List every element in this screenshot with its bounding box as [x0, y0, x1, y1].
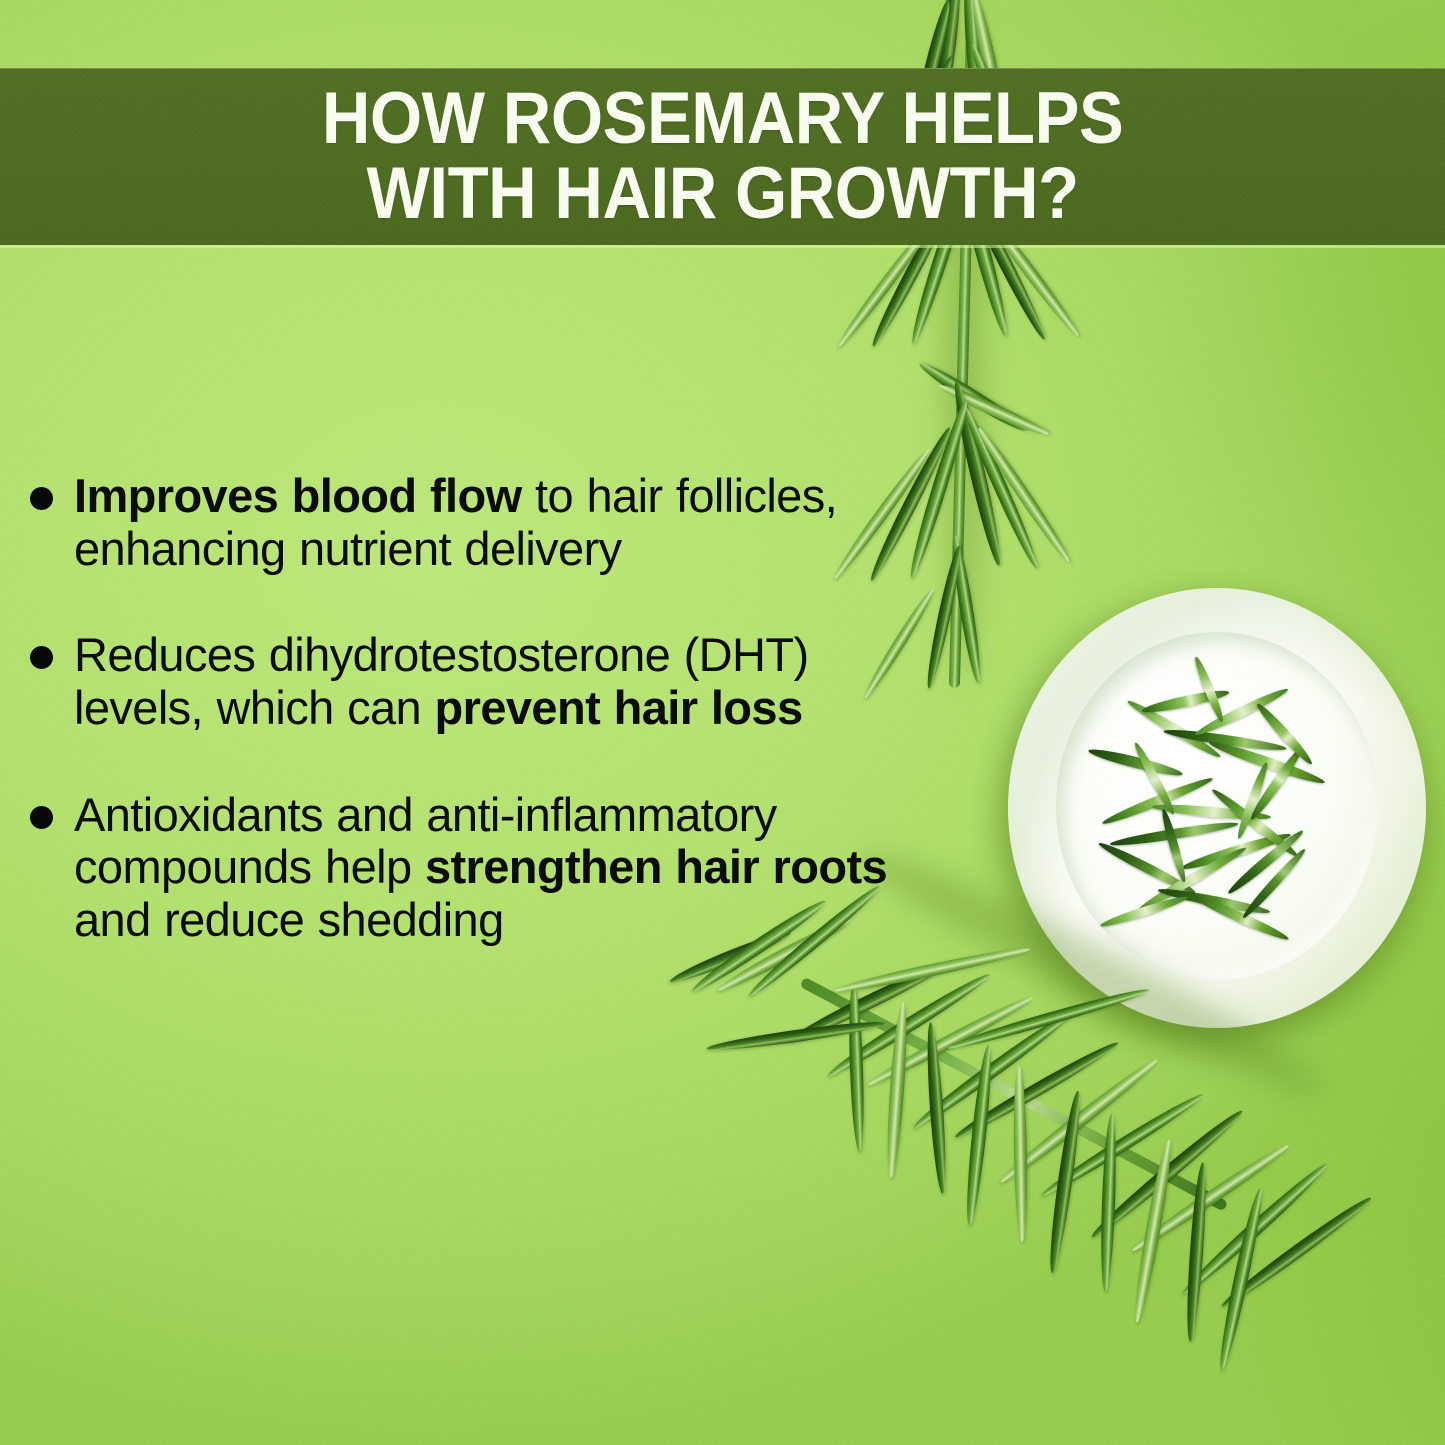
bullet-dot-icon — [30, 646, 53, 669]
bullet-dot-icon — [30, 487, 53, 510]
list-item: Improves blood flow to hair follicles, e… — [22, 470, 902, 575]
infographic-canvas: HOW ROSEMARY HELPS WITH HAIR GROWTH? Imp… — [0, 0, 1445, 1445]
bullet-text: Reduces dihydrotestosterone (DHT) levels… — [74, 628, 809, 734]
list-item: Antioxidants and anti-inflammatory compo… — [22, 789, 902, 947]
bullet-dot-icon — [30, 806, 53, 829]
page-title: HOW ROSEMARY HELPS WITH HAIR GROWTH? — [285, 82, 1160, 231]
header-band: HOW ROSEMARY HELPS WITH HAIR GROWTH? — [0, 68, 1445, 245]
list-item: Reduces dihydrotestosterone (DHT) levels… — [22, 629, 902, 734]
benefits-list: Improves blood flow to hair follicles, e… — [22, 470, 902, 946]
bullet-text: Antioxidants and anti-inflammatory compo… — [74, 788, 887, 946]
bullet-text: Improves blood flow to hair follicles, e… — [74, 469, 837, 575]
